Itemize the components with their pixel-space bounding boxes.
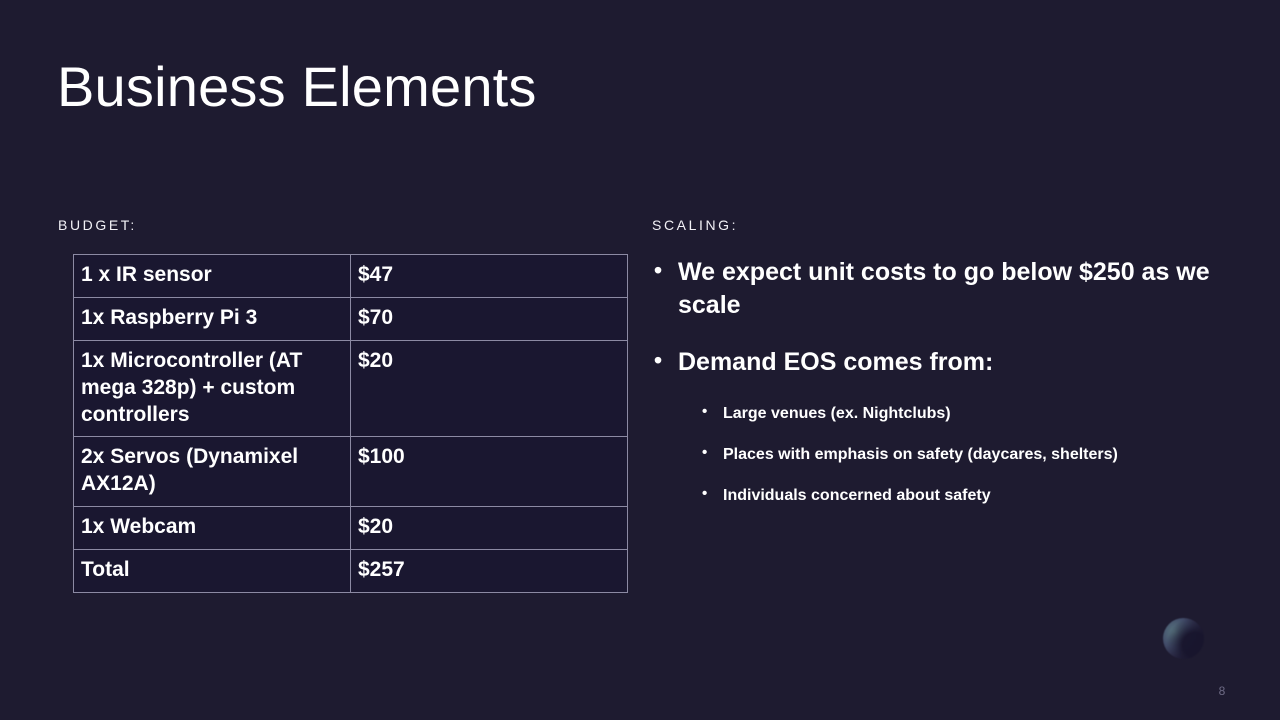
scaling-sub-bullet-item: Places with emphasis on safety (daycares…	[652, 444, 1222, 466]
budget-item-cell: 2x Servos (Dynamixel AX12A)	[74, 437, 351, 507]
budget-price-cell: $47	[351, 255, 628, 298]
budget-table-body: 1 x IR sensor $47 1x Raspberry Pi 3 $70 …	[74, 255, 628, 593]
scaling-bullet-item: We expect unit costs to go below $250 as…	[652, 256, 1222, 322]
budget-price-cell: $20	[351, 340, 628, 437]
budget-total-label-cell: Total	[74, 550, 351, 593]
budget-price-cell: $20	[351, 507, 628, 550]
scaling-section-label: SCALING:	[652, 217, 738, 233]
budget-section-label: BUDGET:	[58, 217, 137, 233]
scaling-sub-bullet-list: Large venues (ex. Nightclubs) Places wit…	[652, 403, 1222, 507]
page-title: Business Elements	[57, 56, 537, 118]
crescent-sphere-icon	[1163, 618, 1204, 659]
scaling-bullet-item: Demand EOS comes from:	[652, 346, 1222, 379]
page-number: 8	[1212, 684, 1232, 698]
scaling-sub-bullet-item: Large venues (ex. Nightclubs)	[652, 403, 1222, 425]
table-row: 1x Microcontroller (AT mega 328p) + cust…	[74, 340, 628, 437]
budget-item-cell: 1x Microcontroller (AT mega 328p) + cust…	[74, 340, 351, 437]
table-row: 1 x IR sensor $47	[74, 255, 628, 298]
budget-price-cell: $70	[351, 297, 628, 340]
table-row: 1x Raspberry Pi 3 $70	[74, 297, 628, 340]
budget-table: 1 x IR sensor $47 1x Raspberry Pi 3 $70 …	[73, 254, 628, 593]
table-row-total: Total $257	[74, 550, 628, 593]
presentation-slide: Business Elements BUDGET: 1 x IR sensor …	[0, 0, 1280, 720]
scaling-sub-bullet-item: Individuals concerned about safety	[652, 485, 1222, 507]
table-row: 1x Webcam $20	[74, 507, 628, 550]
budget-total-price-cell: $257	[351, 550, 628, 593]
budget-price-cell: $100	[351, 437, 628, 507]
scaling-bullet-list: We expect unit costs to go below $250 as…	[652, 256, 1222, 526]
budget-item-cell: 1x Raspberry Pi 3	[74, 297, 351, 340]
budget-item-cell: 1x Webcam	[74, 507, 351, 550]
table-row: 2x Servos (Dynamixel AX12A) $100	[74, 437, 628, 507]
budget-item-cell: 1 x IR sensor	[74, 255, 351, 298]
